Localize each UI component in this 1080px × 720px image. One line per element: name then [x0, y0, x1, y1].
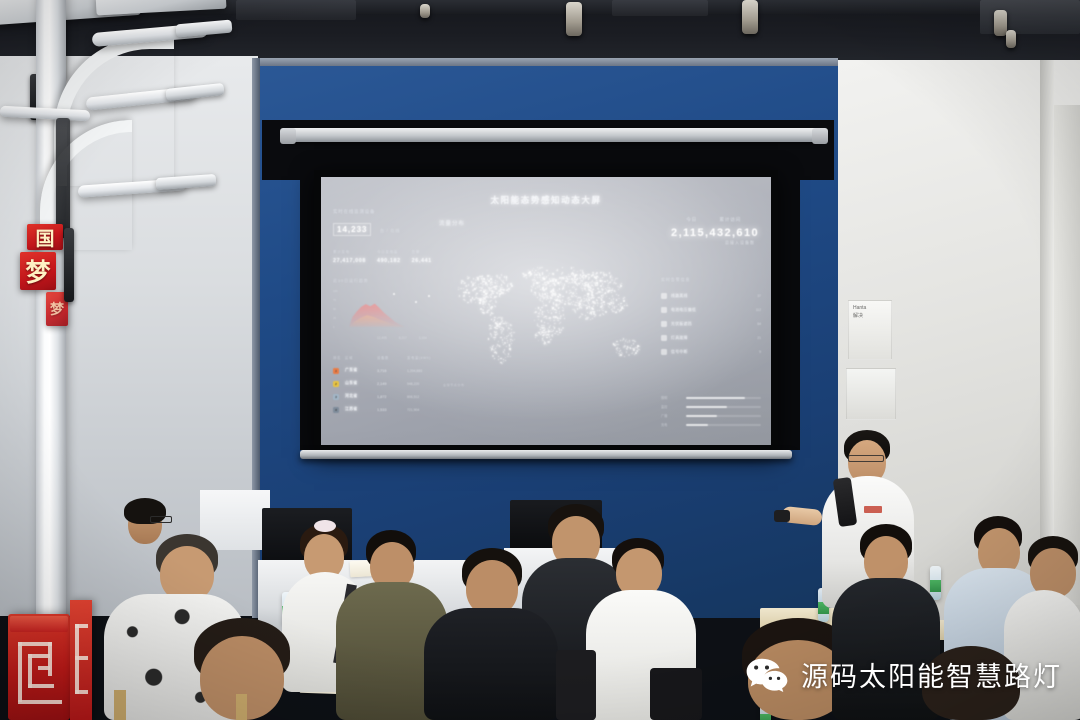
map-dot	[589, 289, 590, 290]
map-dot	[600, 314, 601, 315]
map-dot	[607, 285, 608, 286]
map-dot	[496, 328, 497, 329]
col-header: 排名	[333, 355, 345, 360]
map-dot	[546, 270, 547, 271]
map-dot	[621, 283, 622, 284]
map-dot	[550, 300, 551, 301]
bar-label: 监控	[661, 404, 683, 409]
map-dot	[562, 272, 563, 273]
map-dot	[611, 292, 612, 293]
map-dot	[542, 273, 543, 274]
map-dot	[493, 298, 494, 299]
map-dot	[500, 358, 501, 359]
map-dot	[459, 295, 460, 296]
list-item-value: 9	[759, 350, 761, 354]
map-dot	[582, 283, 583, 284]
map-dot	[602, 277, 603, 278]
map-dot	[624, 343, 625, 344]
map-dot	[591, 282, 592, 283]
map-dot	[606, 274, 607, 275]
map-dot	[555, 312, 556, 313]
list-item: 光伏板遮挡 64	[661, 317, 761, 331]
map-dot	[552, 334, 553, 335]
bar-track	[686, 424, 761, 426]
map-dot	[553, 311, 554, 312]
red-ornament-panel	[8, 614, 70, 720]
map-dot	[575, 291, 576, 292]
map-dot	[501, 317, 502, 318]
chart-footnote: 3,164	[419, 336, 427, 340]
map-dot	[489, 305, 490, 306]
map-dot	[473, 282, 474, 283]
map-dot	[564, 318, 565, 319]
map-dot	[498, 290, 499, 291]
map-dot	[491, 350, 492, 351]
stat-label: 今日发电量	[377, 250, 401, 255]
chart-marker	[393, 293, 395, 295]
map-dot	[549, 330, 550, 331]
map-dot	[570, 299, 571, 300]
map-dot	[580, 280, 581, 281]
map-dot	[606, 296, 607, 297]
left-panel-stat-cell: 累计发电 27,417,008	[333, 250, 366, 264]
cell-region: 山东省	[345, 381, 377, 386]
map-dot	[491, 297, 492, 298]
list-item-label: 灯具故障	[671, 336, 753, 341]
stat-label: 告警	[412, 250, 432, 255]
map-dot	[613, 298, 614, 299]
map-dot	[582, 314, 583, 315]
map-dot	[540, 298, 541, 299]
map-dot	[488, 303, 489, 304]
map-dot	[493, 313, 494, 314]
map-dot	[479, 287, 480, 288]
map-dot	[564, 278, 565, 279]
glasses-icon	[150, 516, 172, 523]
map-dot	[512, 340, 513, 341]
map-dot	[575, 312, 576, 313]
map-dot	[602, 292, 603, 293]
map-dot	[534, 320, 535, 321]
map-dot	[473, 279, 474, 280]
map-dot	[559, 277, 560, 278]
map-dot	[542, 327, 543, 328]
map-dot	[546, 344, 547, 345]
bar-row: 广播	[661, 411, 761, 420]
map-dot	[626, 339, 627, 340]
map-dot	[560, 322, 561, 323]
map-dot	[498, 359, 499, 360]
map-dot	[508, 325, 509, 326]
map-dot	[470, 299, 471, 300]
map-dot	[637, 347, 638, 348]
chair-back	[556, 650, 596, 720]
bar-fill	[686, 415, 717, 417]
bottle-label	[930, 580, 941, 592]
map-dot	[537, 297, 538, 298]
bar-track	[686, 397, 761, 399]
map-dot	[495, 335, 496, 336]
map-dot	[510, 350, 511, 351]
ceiling-spotlight-icon	[566, 2, 582, 36]
map-dot	[539, 282, 540, 283]
bar-fill	[686, 406, 727, 408]
map-dot	[543, 305, 544, 306]
wechat-logo	[745, 656, 789, 694]
map-dot	[607, 303, 608, 304]
map-dot	[466, 289, 468, 291]
map-dot	[597, 297, 598, 298]
bar-fill	[686, 397, 745, 399]
cell-devices: 3,716	[377, 369, 407, 373]
map-dot	[469, 296, 470, 297]
map-dot	[508, 291, 509, 292]
map-dot	[484, 302, 485, 303]
map-dot	[503, 344, 504, 345]
map-dot	[626, 352, 627, 353]
map-dot	[493, 293, 494, 294]
map-dot	[573, 301, 574, 302]
map-dot	[618, 304, 619, 305]
map-dot	[544, 322, 545, 323]
banner-mount	[64, 228, 74, 302]
map-dot	[616, 299, 617, 300]
map-dot	[593, 298, 594, 299]
bar-track	[686, 415, 761, 417]
map-dot	[478, 280, 479, 281]
map-dot	[565, 301, 566, 302]
map-dot	[539, 273, 540, 274]
map-dot	[599, 310, 600, 311]
map-dot	[573, 270, 574, 271]
ceiling-spotlight-icon	[420, 4, 430, 18]
red-ornament-strip	[70, 600, 92, 720]
map-dot	[558, 279, 559, 280]
map-dot	[461, 282, 462, 283]
map-dot	[628, 347, 629, 348]
map-dot	[538, 332, 539, 333]
map-dot	[534, 275, 535, 276]
map-dot	[608, 283, 609, 284]
map-dot	[628, 354, 630, 356]
map-dot	[504, 337, 505, 338]
map-dot	[496, 285, 497, 286]
map-dot	[509, 345, 510, 346]
map-dot	[579, 284, 580, 285]
map-dot	[543, 286, 544, 287]
map-dot	[497, 283, 498, 284]
map-dot	[538, 326, 539, 327]
map-dot	[569, 297, 570, 298]
left-panel-main-value: 14,233	[333, 223, 371, 236]
map-dot	[481, 292, 482, 293]
map-dot	[501, 363, 502, 364]
map-dot	[494, 317, 495, 318]
map-dot	[497, 333, 498, 334]
map-dot	[559, 329, 560, 330]
map-dot	[576, 289, 577, 290]
chair-back	[650, 668, 702, 720]
map-dot	[541, 267, 542, 268]
map-dot	[533, 268, 534, 269]
map-dot	[495, 289, 496, 290]
map-dot	[463, 288, 464, 289]
map-dot	[492, 303, 493, 304]
map-dot	[540, 300, 541, 301]
map-dot	[589, 285, 590, 286]
dashboard: 太阳能态势感知动态大屏 流量分布 今日 累计访问 2,115,432,610 总…	[321, 177, 771, 445]
ceiling-spotlight-icon	[994, 10, 1007, 36]
map-dot	[526, 278, 527, 279]
dashboard-big-number-caption: 总接入设备数	[725, 240, 755, 246]
map-dot	[552, 296, 553, 297]
ornament-line	[48, 642, 52, 676]
map-dot	[539, 293, 540, 294]
map-dot	[580, 316, 581, 317]
map-dot	[537, 316, 538, 317]
map-dot	[548, 312, 549, 313]
map-dot	[549, 273, 550, 274]
map-dot	[511, 285, 513, 287]
map-dot	[554, 295, 555, 296]
map-dot	[538, 307, 539, 308]
map-dot	[486, 280, 487, 281]
map-dot	[514, 339, 515, 340]
map-dot	[528, 272, 530, 274]
map-dot	[583, 304, 584, 305]
map-dot	[492, 280, 493, 281]
map-dot	[601, 280, 602, 281]
map-dot	[541, 280, 542, 281]
map-dot	[502, 292, 503, 293]
map-dot	[475, 294, 477, 296]
cell-region: 河北省	[345, 394, 377, 399]
map-dot	[545, 284, 546, 285]
map-dot	[557, 290, 558, 291]
map-dot	[546, 305, 547, 306]
map-dot	[564, 303, 566, 305]
ornament-line	[75, 624, 88, 628]
map-dot	[593, 286, 594, 287]
map-dot	[614, 280, 615, 281]
map-dot	[569, 299, 570, 300]
col-header: 区域	[345, 355, 377, 360]
map-dot	[555, 279, 556, 280]
map-dot	[568, 303, 569, 304]
map-dot	[569, 290, 570, 291]
map-dot	[535, 337, 536, 338]
map-dot	[612, 277, 613, 278]
map-dot	[534, 277, 535, 278]
map-dot	[556, 306, 557, 307]
map-dot	[507, 356, 508, 357]
map-dot	[600, 285, 602, 287]
map-dot	[563, 314, 564, 315]
map-dot	[485, 293, 486, 294]
map-dot	[612, 301, 613, 302]
chart-axis-tick: 75	[333, 298, 336, 302]
map-dot	[491, 290, 492, 291]
map-dot	[542, 338, 543, 339]
map-dot	[604, 276, 605, 277]
map-dot	[597, 303, 598, 304]
map-dot	[594, 311, 595, 312]
map-dot	[489, 325, 490, 326]
map-dot	[536, 274, 537, 275]
map-dot	[535, 294, 536, 295]
map-dot	[566, 291, 567, 292]
map-dot	[489, 329, 490, 330]
map-dot	[562, 296, 563, 297]
map-dot	[575, 281, 576, 282]
map-dot	[510, 283, 511, 284]
map-dot	[465, 291, 466, 292]
list-item-value: 112	[756, 308, 761, 312]
map-dot	[607, 287, 608, 288]
left-area-chart: 100 75 50 25 0 12,405 8,217 3,164	[333, 289, 437, 333]
map-dot	[616, 283, 617, 284]
map-dot	[631, 353, 632, 354]
map-dot	[502, 320, 503, 321]
map-dot	[547, 293, 548, 294]
map-dot	[499, 346, 500, 347]
map-dot	[510, 341, 511, 342]
map-dot	[535, 308, 536, 309]
map-dot	[600, 278, 601, 279]
map-dot	[495, 280, 496, 281]
map-dot	[575, 302, 576, 303]
map-dot	[602, 308, 603, 309]
chair-leg	[236, 694, 247, 720]
rank-badge: 1	[333, 368, 339, 374]
glasses-icon	[848, 455, 884, 462]
left-panel-stat-cell: 今日发电量 490,182	[377, 250, 401, 264]
map-dot	[563, 308, 564, 309]
ornament-line	[28, 684, 54, 688]
map-dot	[557, 334, 558, 335]
map-dot	[599, 315, 600, 316]
map-dot	[619, 351, 620, 352]
bar-track	[686, 406, 761, 408]
map-dot	[610, 282, 611, 283]
stat-label: 累计发电	[333, 250, 366, 255]
map-dot	[577, 300, 578, 301]
map-dot	[475, 282, 476, 283]
map-dot	[603, 296, 604, 297]
map-dot	[503, 290, 504, 291]
map-dot	[587, 312, 588, 313]
ornament-line	[18, 642, 22, 702]
map-dot	[502, 339, 503, 340]
map-dot	[609, 298, 610, 299]
map-dot	[557, 304, 559, 306]
map-dot	[531, 289, 532, 290]
map-dot	[585, 278, 586, 279]
map-dot	[617, 347, 618, 348]
map-dot	[604, 304, 605, 305]
map-dot	[609, 307, 610, 308]
map-dot	[495, 301, 497, 303]
map-dot	[498, 341, 499, 342]
map-dot	[470, 300, 471, 301]
map-dot	[544, 328, 546, 330]
map-dot	[506, 326, 507, 327]
map-dot	[595, 290, 596, 291]
map-dot	[558, 320, 559, 321]
map-dot	[568, 283, 569, 284]
map-dot	[558, 293, 560, 295]
map-dot	[483, 279, 484, 280]
map-dot	[620, 303, 621, 304]
map-dot	[618, 295, 619, 296]
signal-icon	[661, 349, 667, 355]
map-dot	[537, 277, 538, 278]
alert-list-title: 实时告警信息	[661, 277, 761, 283]
map-dot	[487, 278, 488, 279]
usage-bars-panel: 照明 监控 广播 充电	[661, 393, 761, 429]
map-dot	[539, 287, 540, 288]
ceiling-panel	[612, 0, 708, 16]
map-dot	[637, 350, 638, 351]
map-dot	[573, 296, 574, 297]
map-dot	[552, 307, 553, 308]
map-dot	[564, 276, 565, 277]
dashboard-topright-label-2: 累计访问	[719, 217, 741, 223]
map-dot	[568, 276, 569, 277]
map-dot	[507, 330, 508, 331]
map-dot	[493, 349, 495, 351]
map-dot	[503, 351, 504, 352]
map-dot	[577, 285, 578, 286]
map-dot	[613, 283, 614, 284]
map-dot	[633, 343, 634, 344]
map-dot	[494, 358, 495, 359]
map-dot	[557, 298, 558, 299]
map-dot	[547, 323, 548, 324]
map-dot	[549, 283, 550, 284]
map-dot	[623, 346, 624, 347]
map-dot	[542, 340, 543, 341]
map-dot	[603, 301, 605, 303]
left-panel-header: 实时在线监测设备	[333, 209, 437, 215]
watermark: 源码太阳能智慧路灯	[745, 655, 1062, 694]
map-dot	[543, 303, 544, 304]
map-dot	[495, 282, 496, 283]
map-dot	[490, 333, 491, 334]
map-dot	[492, 276, 493, 277]
map-dot	[536, 270, 537, 271]
map-dot	[583, 301, 584, 302]
map-dot	[543, 325, 544, 326]
map-dot	[542, 296, 543, 297]
map-dot	[507, 284, 508, 285]
map-dot	[544, 311, 545, 312]
map-dot	[496, 352, 497, 353]
map-dot	[500, 329, 501, 330]
map-dot	[505, 360, 506, 361]
map-dot	[461, 288, 462, 289]
ornament-line	[38, 666, 50, 670]
map-dot	[619, 348, 620, 349]
map-dot	[589, 282, 590, 283]
map-dot	[594, 277, 595, 278]
map-dot	[541, 307, 542, 308]
map-dot	[626, 305, 627, 306]
map-dot	[620, 305, 621, 306]
map-dot	[597, 284, 598, 285]
map-dot	[533, 285, 534, 286]
map-caption: 全球节点分布	[443, 383, 465, 387]
